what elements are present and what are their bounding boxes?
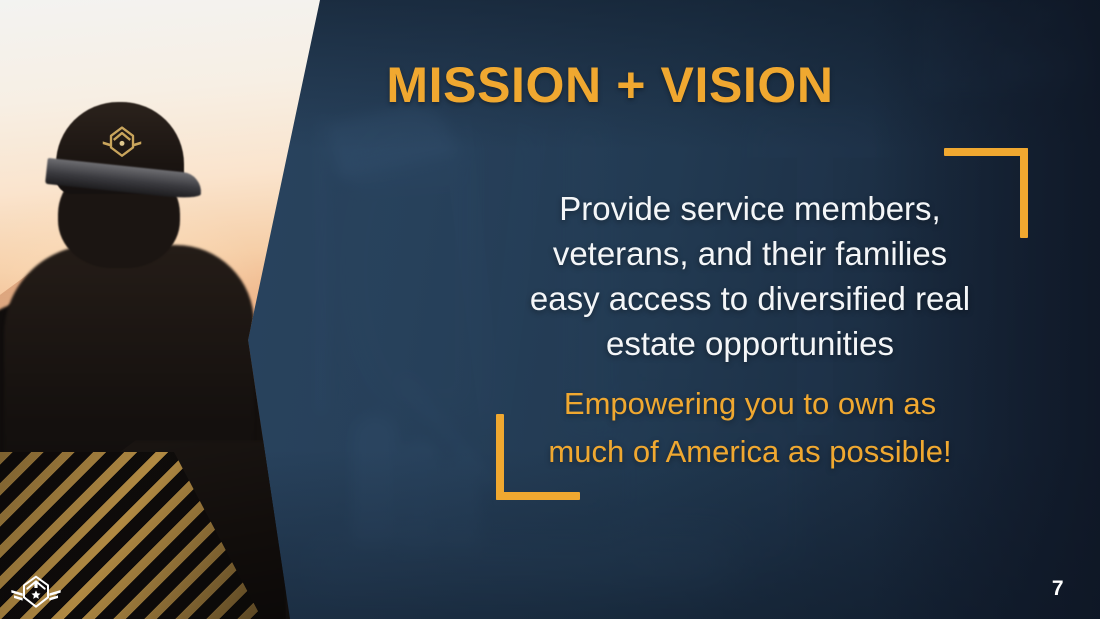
corner-bracket-top-right-icon xyxy=(944,148,1028,238)
mission-line: veterans, and their families xyxy=(480,231,1020,276)
page-number: 7 xyxy=(1052,577,1064,601)
cap-emblem-icon xyxy=(100,120,144,164)
mission-line: estate opportunities xyxy=(480,321,1020,366)
brand-logo-icon[interactable] xyxy=(10,572,62,612)
slide-mission-vision: MISSION + VISION Provide service members… xyxy=(0,0,1100,619)
mission-line: Provide service members, xyxy=(480,186,1020,231)
corner-bracket-bottom-left-icon xyxy=(496,414,580,500)
mission-line: easy access to diversified real xyxy=(480,276,1020,321)
mission-statement: Provide service members, veterans, and t… xyxy=(480,186,1020,366)
page-title: MISSION + VISION xyxy=(330,56,890,114)
